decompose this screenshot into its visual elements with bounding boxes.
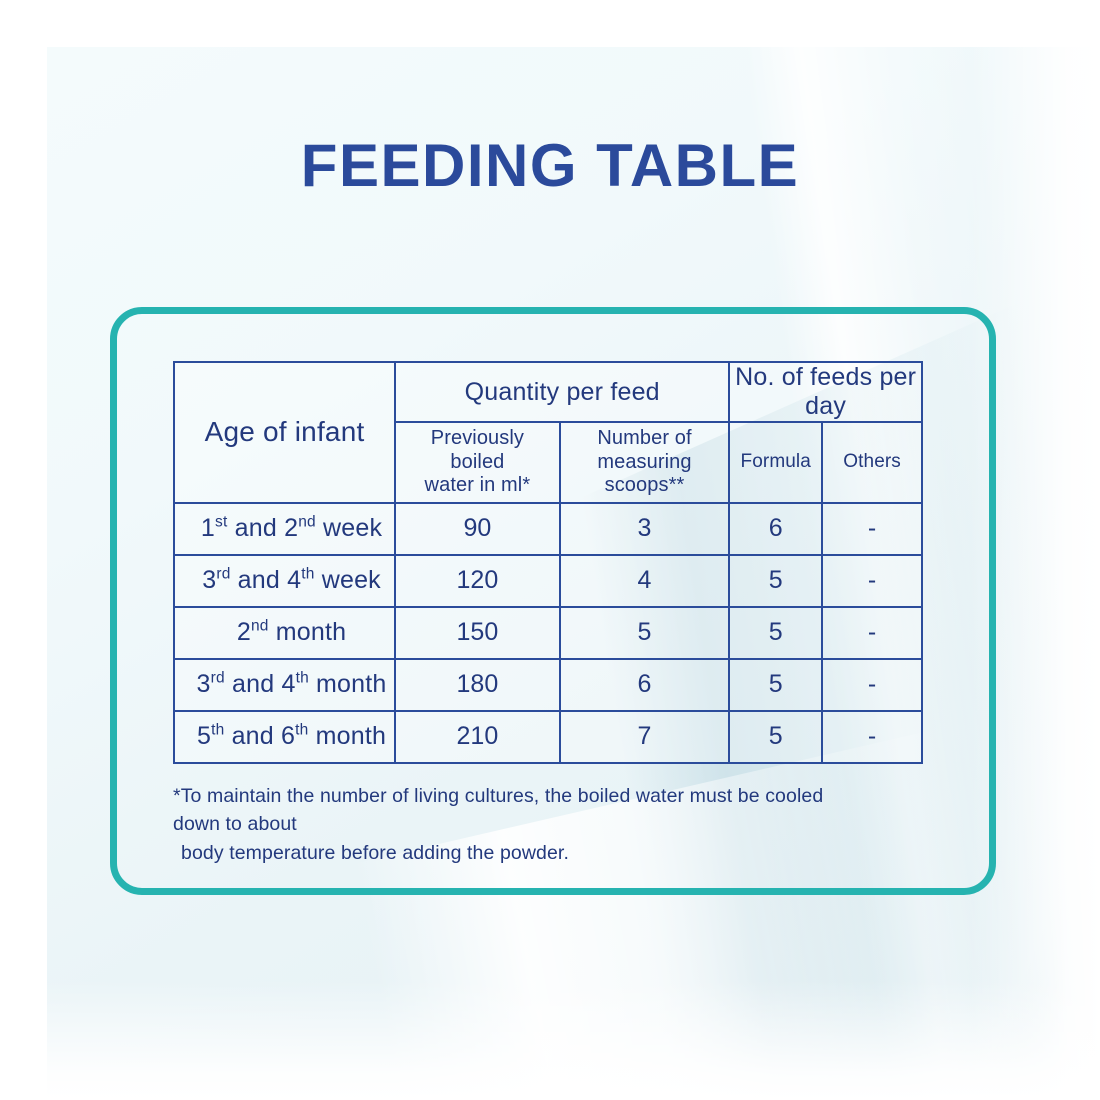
cell-formula-feeds: 5 <box>729 555 822 607</box>
header-water-line1: Previously boiled <box>431 427 524 473</box>
feeding-table-container: Age of infant Quantity per feed No. of f… <box>173 361 923 764</box>
cell-age-of-infant: 3rd and 4th week <box>174 555 395 607</box>
table-row: 3rd and 4th week12045- <box>174 555 922 607</box>
cell-measuring-scoops: 6 <box>560 659 730 711</box>
header-no-of-feeds-per-day: No. of feeds per day <box>729 362 922 422</box>
cell-measuring-scoops: 7 <box>560 711 730 763</box>
cell-others-feeds: - <box>822 503 922 555</box>
cell-age-of-infant: 1st and 2nd week <box>174 503 395 555</box>
table-row: 1st and 2nd week9036- <box>174 503 922 555</box>
feeding-table-page: FEEDING TABLE Age of infant Quantity per… <box>0 0 1100 1100</box>
cell-age-of-infant: 2nd month <box>174 607 395 659</box>
footnote-line-1: *To maintain the number of living cultur… <box>173 785 823 835</box>
cell-previously-boiled-water: 120 <box>395 555 560 607</box>
cell-formula-feeds: 5 <box>729 659 822 711</box>
cell-others-feeds: - <box>822 659 922 711</box>
header-water-line2: water in ml* <box>425 474 531 496</box>
cell-previously-boiled-water: 150 <box>395 607 560 659</box>
cell-measuring-scoops: 5 <box>560 607 730 659</box>
cell-formula-feeds: 6 <box>729 503 822 555</box>
footnote-line-2: body temperature before adding the powde… <box>173 839 873 867</box>
edge-fade-bottom <box>47 980 1100 1100</box>
cell-measuring-scoops: 3 <box>560 503 730 555</box>
header-quantity-per-feed: Quantity per feed <box>395 362 729 422</box>
table-head: Age of infant Quantity per feed No. of f… <box>174 362 922 503</box>
cell-previously-boiled-water: 210 <box>395 711 560 763</box>
cell-others-feeds: - <box>822 607 922 659</box>
footnote: *To maintain the number of living cultur… <box>173 782 873 867</box>
feeding-table: Age of infant Quantity per feed No. of f… <box>173 361 923 764</box>
header-others: Others <box>822 422 922 503</box>
cell-formula-feeds: 5 <box>729 607 822 659</box>
cell-others-feeds: - <box>822 555 922 607</box>
table-row: 3rd and 4th month18065- <box>174 659 922 711</box>
cell-previously-boiled-water: 180 <box>395 659 560 711</box>
table-row: 2nd month15055- <box>174 607 922 659</box>
header-scoops-line2: measuring scoops** <box>597 451 691 497</box>
header-age-of-infant: Age of infant <box>174 362 395 503</box>
cell-formula-feeds: 5 <box>729 711 822 763</box>
page-title: FEEDING TABLE <box>0 131 1100 200</box>
header-number-of-measuring-scoops: Number of measuring scoops** <box>560 422 730 503</box>
header-previously-boiled-water: Previously boiled water in ml* <box>395 422 560 503</box>
header-scoops-line1: Number of <box>597 427 691 449</box>
cell-previously-boiled-water: 90 <box>395 503 560 555</box>
table-row: 5th and 6th month21075- <box>174 711 922 763</box>
table-header-row-groups: Age of infant Quantity per feed No. of f… <box>174 362 922 422</box>
table-body: 1st and 2nd week9036-3rd and 4th week120… <box>174 503 922 763</box>
cell-age-of-infant: 5th and 6th month <box>174 711 395 763</box>
header-formula: Formula <box>729 422 822 503</box>
cell-age-of-infant: 3rd and 4th month <box>174 659 395 711</box>
cell-measuring-scoops: 4 <box>560 555 730 607</box>
cell-others-feeds: - <box>822 711 922 763</box>
